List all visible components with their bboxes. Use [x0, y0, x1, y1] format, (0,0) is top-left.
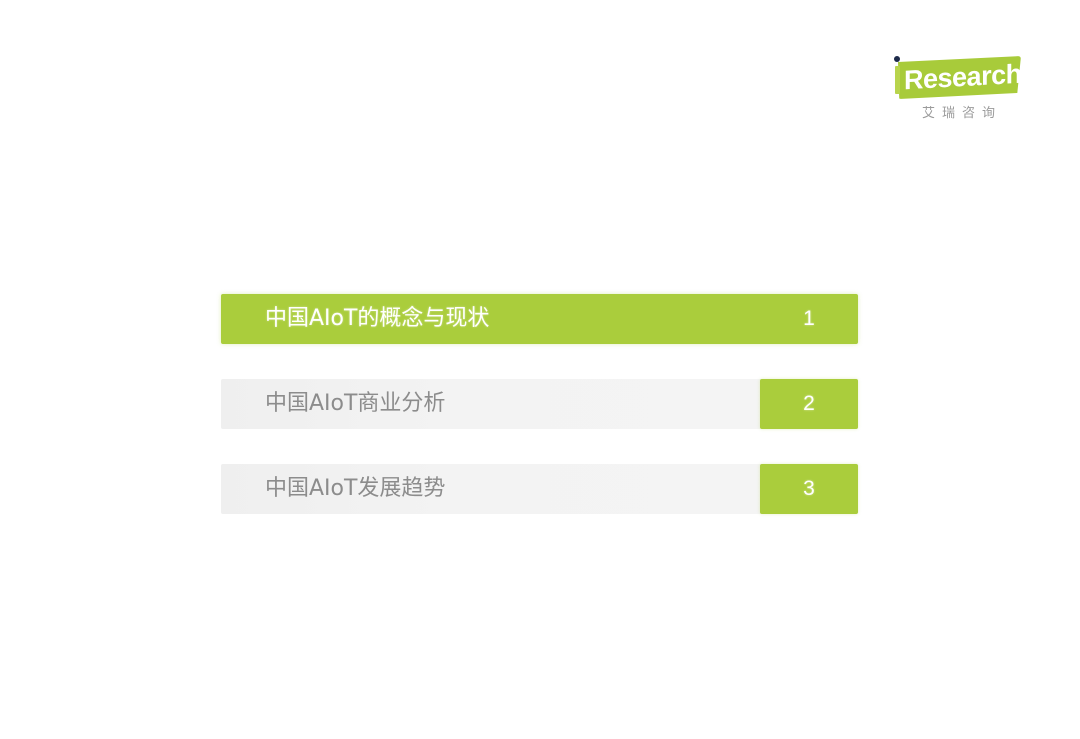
agenda-row-3-number-box: 3	[760, 464, 858, 514]
agenda-row-1-label: 中国AIoT的概念与现状	[265, 294, 489, 344]
logo-chinese-name: 艾瑞咨询	[892, 102, 1032, 121]
agenda-row-2-label: 中国AIoT商业分析	[265, 379, 445, 429]
slide-canvas: Research 艾瑞咨询 中国AIoT的概念与现状 1 中国AIoT商业分析 …	[0, 0, 1080, 739]
agenda-row-1[interactable]: 中国AIoT的概念与现状 1	[221, 294, 858, 344]
agenda-list: 中国AIoT的概念与现状 1 中国AIoT商业分析 2 中国AIoT发展趋势 3	[221, 294, 858, 514]
agenda-row-2-number-box: 2	[760, 379, 858, 429]
logo-i-stem-icon	[895, 66, 900, 94]
agenda-row-1-number: 1	[760, 294, 858, 344]
agenda-row-3[interactable]: 中国AIoT发展趋势 3	[221, 464, 858, 514]
agenda-row-1-number-box: 1	[760, 294, 858, 344]
logo-wordmark: Research	[904, 54, 1024, 101]
agenda-row-2-number: 2	[760, 379, 858, 429]
iresearch-logo: Research 艾瑞咨询	[884, 48, 1034, 128]
agenda-row-3-label: 中国AIoT发展趋势	[265, 464, 445, 514]
agenda-row-3-number: 3	[760, 464, 858, 514]
agenda-row-2[interactable]: 中国AIoT商业分析 2	[221, 379, 858, 429]
logo-i-dot-icon	[894, 56, 900, 62]
